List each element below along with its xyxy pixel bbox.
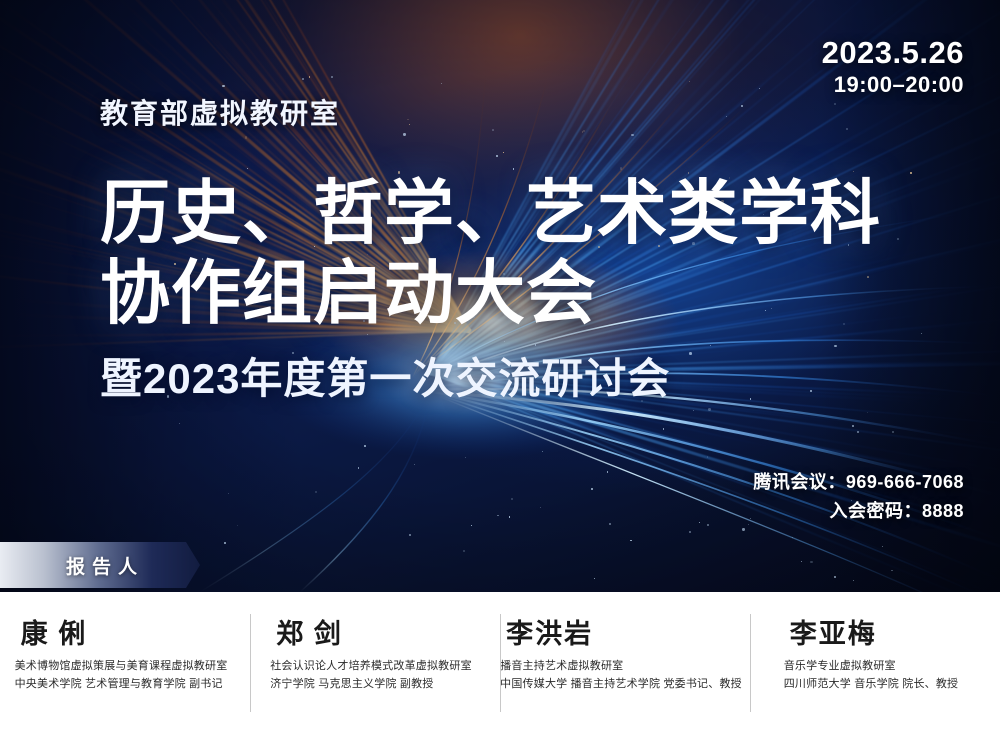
speaker-name: 郑 剑 <box>270 618 472 652</box>
event-time: 19:00–20:00 <box>822 71 964 100</box>
meeting-info: 腾讯会议：969-666-7068 入会密码：8888 <box>753 468 964 526</box>
meeting-room-id: 腾讯会议：969-666-7068 <box>753 468 964 497</box>
hero-background: 教育部虚拟教研室 2023.5.26 19:00–20:00 历史、哲学、艺术类… <box>0 0 1000 592</box>
speaker-affiliation-primary: 音乐学专业虚拟教研室 <box>784 658 959 676</box>
speaker-affiliation-primary: 播音主持艺术虚拟教研室 <box>500 658 742 676</box>
meeting-password: 入会密码：8888 <box>753 497 964 526</box>
speaker-name: 康 俐 <box>15 618 228 652</box>
page-kicker: 教育部虚拟教研室 <box>100 92 340 132</box>
speaker-affiliation-primary: 社会认识论人才培养模式改革虚拟教研室 <box>270 658 472 676</box>
speaker-affiliation-secondary: 中央美术学院 艺术管理与教育学院 副书记 <box>15 676 228 694</box>
speaker-affiliation-secondary: 中国传媒大学 播音主持艺术学院 党委书记、教授 <box>500 676 742 694</box>
page-title-line2: 协作组启动大会 <box>100 258 597 328</box>
speaker-name: 李亚梅 <box>784 618 959 652</box>
speakers-section: 康 俐美术博物馆虚拟策展与美育课程虚拟教研室中央美术学院 艺术管理与教育学院 副… <box>0 592 1000 741</box>
speaker-card: 李洪岩播音主持艺术虚拟教研室中国传媒大学 播音主持艺术学院 党委书记、教授 <box>500 592 750 741</box>
conference-poster: 教育部虚拟教研室 2023.5.26 19:00–20:00 历史、哲学、艺术类… <box>0 0 1000 741</box>
page-title-line1: 历史、哲学、艺术类学科 <box>100 178 881 248</box>
speaker-card: 郑 剑社会认识论人才培养模式改革虚拟教研室济宁学院 马克思主义学院 副教授 <box>250 592 500 741</box>
speaker-affiliation-primary: 美术博物馆虚拟策展与美育课程虚拟教研室 <box>15 658 228 676</box>
speaker-affiliation-secondary: 四川师范大学 音乐学院 院长、教授 <box>784 676 959 694</box>
page-subtitle: 暨2023年度第一次交流研讨会 <box>100 356 670 402</box>
event-date: 2023.5.26 <box>822 36 964 71</box>
speakers-ribbon-label: 报告人 <box>66 552 144 579</box>
speaker-card: 康 俐美术博物馆虚拟策展与美育课程虚拟教研室中央美术学院 艺术管理与教育学院 副… <box>0 592 250 741</box>
speakers-ribbon: 报告人 <box>0 542 200 588</box>
event-datetime: 2023.5.26 19:00–20:00 <box>822 36 964 99</box>
speaker-name: 李洪岩 <box>500 618 742 652</box>
speaker-affiliation-secondary: 济宁学院 马克思主义学院 副教授 <box>270 676 472 694</box>
speaker-card: 李亚梅音乐学专业虚拟教研室四川师范大学 音乐学院 院长、教授 <box>750 592 1000 741</box>
